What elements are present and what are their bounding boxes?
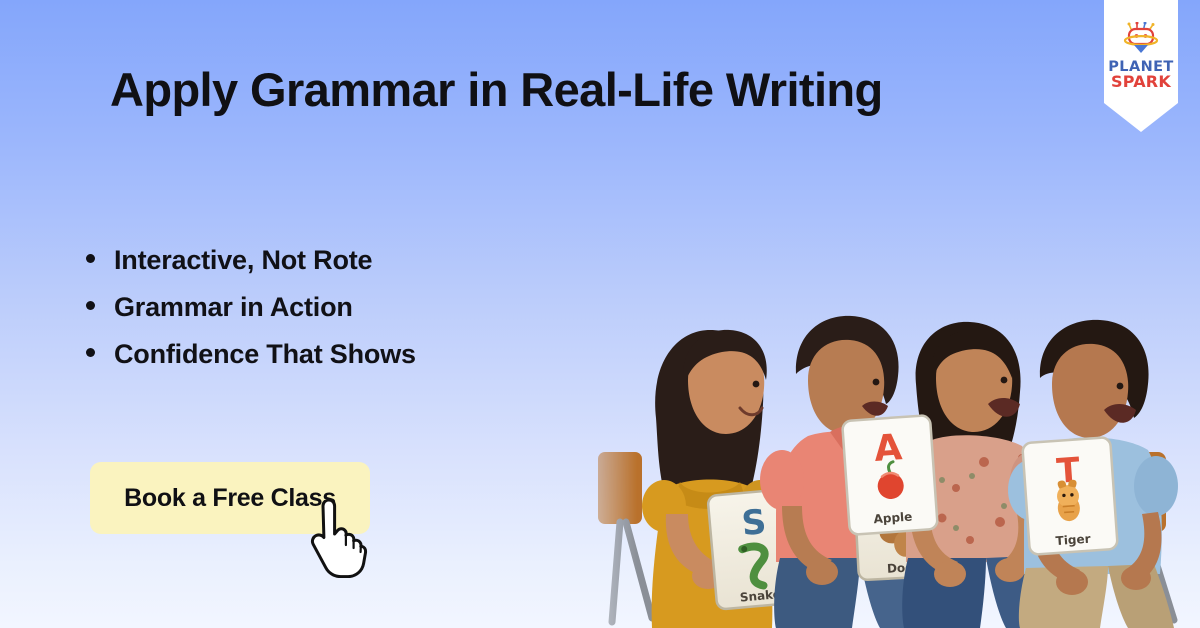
brand-logo-ribbon[interactable]: PLANET SPARK (1104, 0, 1178, 132)
list-item: Confidence That Shows (86, 339, 416, 370)
promo-banner: PLANET SPARK Apply Grammar in Real-Life … (0, 0, 1200, 628)
cta-container: Book a Free Class (90, 462, 370, 534)
list-item-label: Confidence That Shows (114, 339, 416, 370)
bullet-dot-icon (86, 348, 95, 357)
bullet-dot-icon (86, 254, 95, 263)
brand-word-spark: SPARK (1108, 74, 1173, 90)
book-free-class-button[interactable]: Book a Free Class (90, 462, 370, 534)
list-item: Interactive, Not Rote (86, 245, 416, 276)
brand-wordmark: PLANET SPARK (1108, 60, 1173, 90)
svg-text:S: S (740, 502, 768, 544)
svg-text:Apple: Apple (873, 510, 913, 527)
feature-list: Interactive, Not Rote Grammar in Action … (86, 245, 416, 386)
list-item-label: Interactive, Not Rote (114, 245, 372, 276)
children-flashcards-photo: S Snake (560, 300, 1200, 628)
page-title: Apply Grammar in Real-Life Writing (110, 64, 1010, 117)
list-item: Grammar in Action (86, 292, 416, 323)
list-item-label: Grammar in Action (114, 292, 353, 323)
flashcard-apple: A Apple (842, 415, 938, 535)
flashcard-tiger: T Tiger (1022, 437, 1118, 555)
bullet-dot-icon (86, 301, 95, 310)
planetspark-robot-icon (1118, 22, 1164, 56)
svg-text:Tiger: Tiger (1055, 532, 1091, 548)
